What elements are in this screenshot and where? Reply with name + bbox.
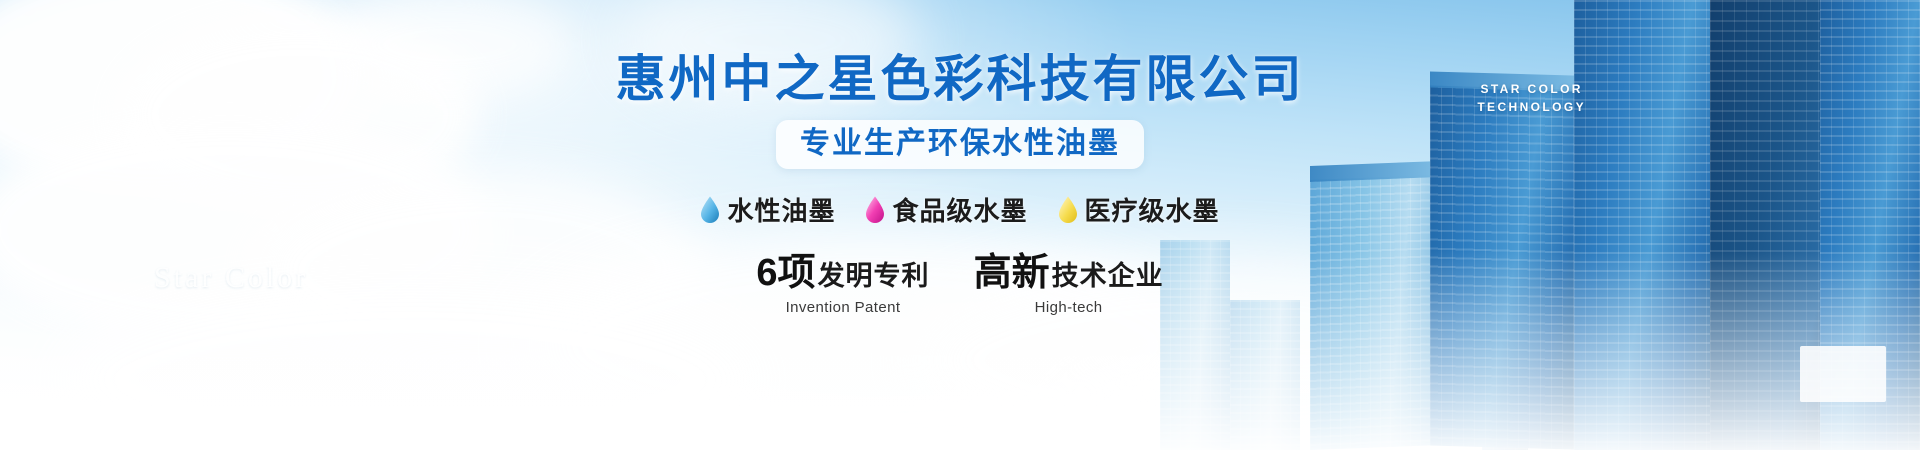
company-name-title: 惠州中之星色彩科技有限公司 bbox=[616, 54, 1305, 104]
feature-label: 水性油墨 bbox=[727, 191, 835, 228]
subtitle-text: 专业生产环保水性油墨 bbox=[800, 127, 1120, 160]
badge-emphasis: 6项 bbox=[756, 254, 815, 292]
badge-emphasis: 高新 bbox=[974, 254, 1050, 292]
water-drop-icon bbox=[700, 196, 720, 223]
feature-item: 食品级水墨 bbox=[865, 191, 1027, 228]
badge-invention-patent: 6项 发明专利 Invention Patent bbox=[756, 254, 929, 316]
subtitle-pill: 专业生产环保水性油墨 bbox=[776, 120, 1144, 169]
badge-english: High-tech bbox=[1035, 299, 1103, 316]
badge-chinese: 6项 发明专利 bbox=[756, 254, 929, 292]
badge-chinese: 高新 技术企业 bbox=[974, 254, 1164, 292]
feature-item: 医疗级水墨 bbox=[1058, 191, 1220, 228]
feature-list: 水性油墨 食品级水墨 医疗级水墨 bbox=[700, 191, 1219, 228]
feature-item: 水性油墨 bbox=[700, 191, 835, 228]
water-drop-icon bbox=[865, 196, 885, 223]
badge-english: Invention Patent bbox=[786, 299, 901, 316]
badge-detail: 技术企业 bbox=[1052, 263, 1164, 290]
badge-high-tech: 高新 技术企业 High-tech bbox=[974, 254, 1164, 316]
feature-label: 医疗级水墨 bbox=[1085, 191, 1220, 228]
badge-detail: 发明专利 bbox=[818, 263, 930, 290]
banner-content: 惠州中之星色彩科技有限公司 专业生产环保水性油墨 水性油墨 bbox=[0, 0, 1920, 450]
water-drop-icon bbox=[1058, 196, 1078, 223]
badge-list: 6项 发明专利 Invention Patent 高新 技术企业 High-te… bbox=[756, 254, 1163, 316]
feature-label: 食品级水墨 bbox=[892, 191, 1027, 228]
company-hero-banner: Star Color STAR COLOR TECHNOLOGY 惠州中之星色彩… bbox=[0, 0, 1920, 450]
